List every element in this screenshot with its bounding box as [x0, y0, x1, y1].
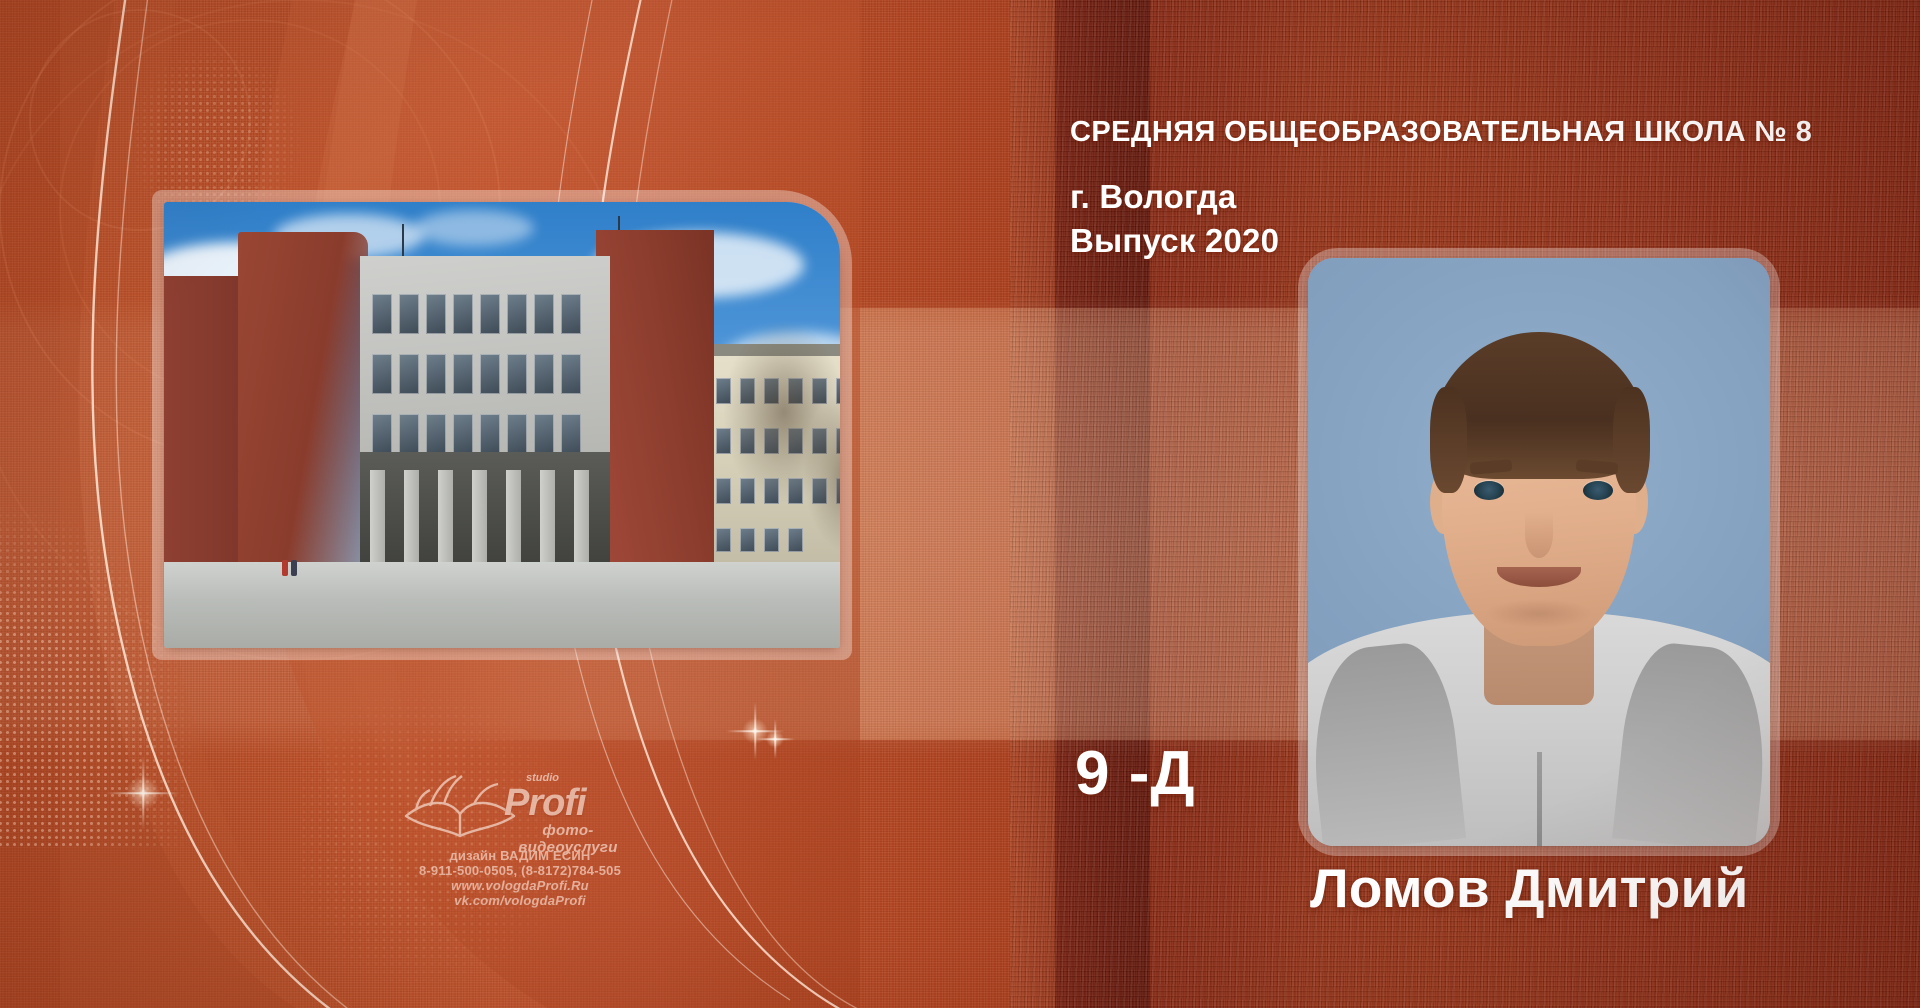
school-photo: [152, 190, 852, 660]
portrait-image: [1308, 258, 1770, 846]
studio-phones: 8-911-500-0505, (8-8172)784-505: [400, 863, 640, 878]
portrait-nose: [1525, 511, 1553, 558]
pillar-4: [472, 470, 487, 574]
studio-designer: дизайн ВАДИМ ЕСИН: [400, 848, 640, 863]
studio-website[interactable]: www.vologdaProfi.Ru: [400, 878, 640, 893]
portrait-chin-shadow: [1484, 599, 1595, 628]
portrait-hair-side-left: [1430, 387, 1467, 493]
person-2: [291, 560, 297, 576]
city-label: г. Вологда: [1070, 178, 1236, 216]
building-tower-left: [238, 232, 368, 588]
studio-contacts: дизайн ВАДИМ ЕСИН 8-911-500-0505, (8-817…: [400, 848, 640, 908]
portrait-hoodie-zipper: [1537, 752, 1543, 846]
building-tower-right: [596, 230, 714, 582]
student-name: Ломов Дмитрий: [1310, 856, 1749, 920]
student-portrait: [1298, 248, 1780, 856]
studio-watermark: studio Profi фото-видеоуслуги дизайн ВАД…: [400, 764, 640, 904]
photo-ground: [164, 562, 840, 648]
studio-name: Profi: [504, 782, 586, 825]
studio-logo: studio Profi фото-видеоуслуги: [400, 764, 640, 842]
pillar-5: [506, 470, 521, 574]
cloud-5: [414, 210, 534, 246]
pillar-6: [540, 470, 555, 574]
class-label: 9 -Д: [1075, 738, 1196, 809]
graduation-year-label: Выпуск 2020: [1070, 222, 1279, 260]
pillar-1: [370, 470, 385, 574]
school-photo-image: [164, 202, 840, 648]
main-window-row-3: [372, 414, 581, 454]
studio-vk-link[interactable]: vk.com/vologdaProfi: [400, 893, 640, 908]
main-window-row-1: [372, 294, 581, 334]
pillar-7: [574, 470, 589, 574]
portrait-hair-side-right: [1613, 387, 1650, 493]
school-title: СРЕДНЯЯ ОБЩЕОБРАЗОВАТЕЛЬНАЯ ШКОЛА № 8: [1070, 116, 1812, 149]
pillar-2: [404, 470, 419, 574]
main-window-row-2: [372, 354, 581, 394]
tree-2: [804, 392, 840, 552]
pillar-3: [438, 470, 453, 574]
person-1: [282, 560, 288, 576]
graduation-album-page: СРЕДНЯЯ ОБЩЕОБРАЗОВАТЕЛЬНАЯ ШКОЛА № 8 г.…: [0, 0, 1920, 1008]
wing-window-row-4: [716, 528, 803, 552]
